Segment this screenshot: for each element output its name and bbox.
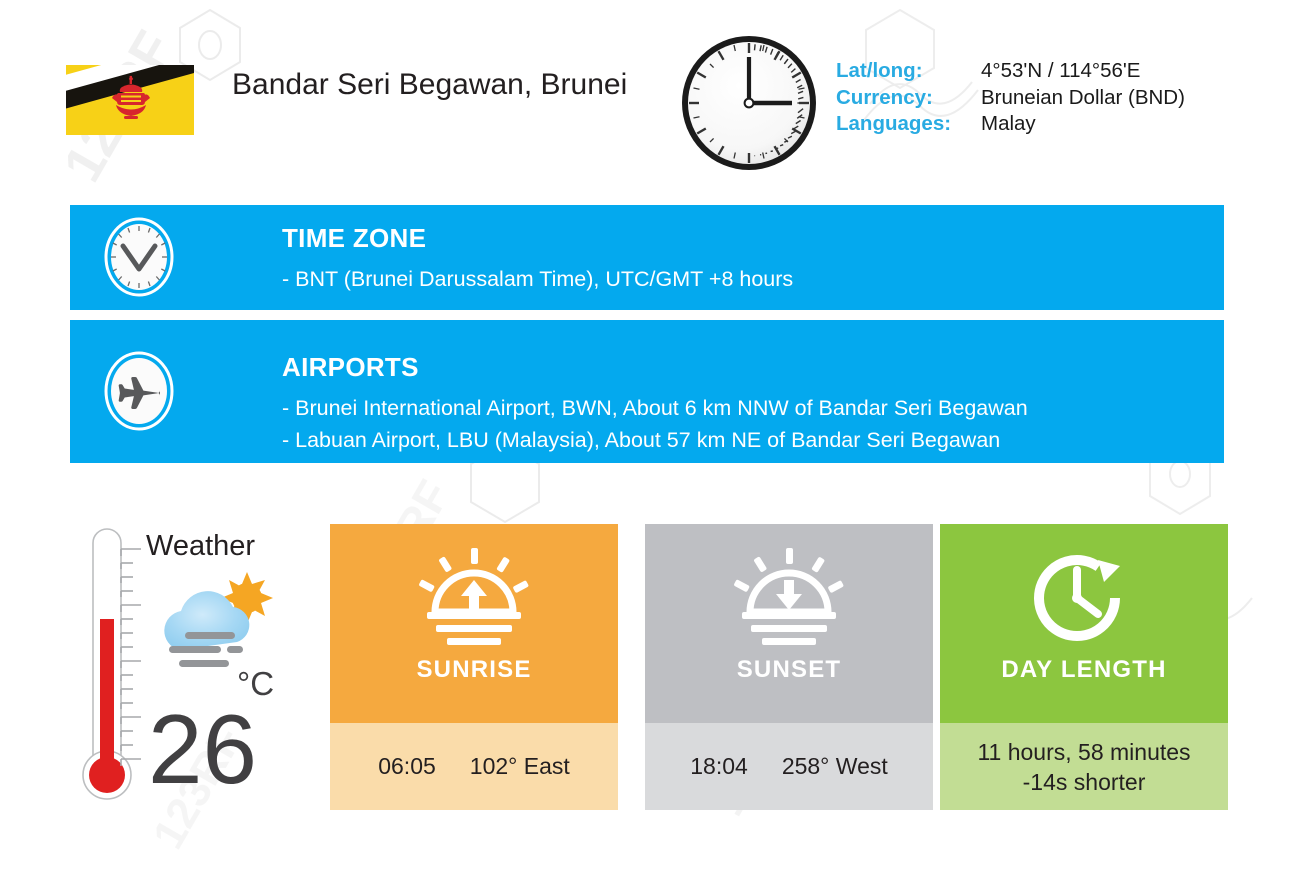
clock-icon xyxy=(103,216,175,298)
daylength-delta: -14s shorter xyxy=(977,767,1190,797)
banner-line: - Brunei International Airport, BWN, Abo… xyxy=(282,392,1212,424)
card-header: SUNSET xyxy=(645,524,933,723)
flag-crest-icon xyxy=(110,75,152,127)
sunset-time: 18:04 xyxy=(690,753,748,780)
weather-label: Weather xyxy=(146,530,255,563)
meta-label: Languages: xyxy=(836,111,981,138)
meta-row-currency: Currency: Bruneian Dollar (BND) xyxy=(836,85,1185,112)
brunei-flag-icon xyxy=(66,65,194,135)
card-title: SUNSET xyxy=(737,656,842,684)
banner-line: - BNT (Brunei Darussalam Time), UTC/GMT … xyxy=(282,263,1212,295)
banner-title: TIME ZONE xyxy=(282,223,1212,254)
banner-title: AIRPORTS xyxy=(282,352,1212,383)
meta-value: 4°53'N / 114°56'E xyxy=(981,58,1140,85)
meta-row-languages: Languages: Malay xyxy=(836,111,1185,138)
airplane-icon xyxy=(103,350,175,432)
card-sunrise: SUNRISE 06:05 102° East xyxy=(330,524,618,810)
card-title: DAY LENGTH xyxy=(1001,656,1166,684)
card-sunset: SUNSET 18:04 258° West xyxy=(645,524,933,810)
card-header: DAY LENGTH xyxy=(940,524,1228,723)
sunrise-time: 06:05 xyxy=(378,753,436,780)
temperature-value: 26 xyxy=(148,700,257,798)
card-header: SUNRISE xyxy=(330,524,618,723)
meta-label: Lat/long: xyxy=(836,58,981,85)
clock-arrow-icon xyxy=(1020,546,1148,650)
sunset-icon xyxy=(725,546,853,650)
country-meta-list: Lat/long: 4°53'N / 114°56'E Currency: Br… xyxy=(836,58,1185,138)
meta-value: Bruneian Dollar (BND) xyxy=(981,85,1185,112)
header: Bandar Seri Begawan, Brunei xyxy=(0,0,1300,190)
sunrise-icon xyxy=(410,546,538,650)
meta-label: Currency: xyxy=(836,85,981,112)
analog-clock-icon xyxy=(678,32,820,174)
sunset-direction: 258° West xyxy=(782,753,888,780)
banner-body: AIRPORTS - Brunei International Airport,… xyxy=(282,352,1212,456)
card-footer: 18:04 258° West xyxy=(645,723,933,810)
banner-timezone: TIME ZONE - BNT (Brunei Darussalam Time)… xyxy=(70,205,1224,310)
banner-line: - Labuan Airport, LBU (Malaysia), About … xyxy=(282,424,1212,456)
card-footer: 11 hours, 58 minutes -14s shorter xyxy=(940,723,1228,810)
meta-value: Malay xyxy=(981,111,1036,138)
meta-row-latlong: Lat/long: 4°53'N / 114°56'E xyxy=(836,58,1185,85)
daylength-duration: 11 hours, 58 minutes xyxy=(977,737,1190,767)
page-title: Bandar Seri Begawan, Brunei xyxy=(232,68,627,102)
card-daylength: DAY LENGTH 11 hours, 58 minutes -14s sho… xyxy=(940,524,1228,810)
infographic-canvas: 123RF 123RF xyxy=(0,0,1300,866)
sunrise-direction: 102° East xyxy=(470,753,570,780)
banner-body: TIME ZONE - BNT (Brunei Darussalam Time)… xyxy=(282,223,1212,295)
card-footer: 06:05 102° East xyxy=(330,723,618,810)
card-title: SUNRISE xyxy=(416,656,531,684)
thermometer-icon xyxy=(75,527,147,812)
banner-airports: AIRPORTS - Brunei International Airport,… xyxy=(70,320,1224,463)
